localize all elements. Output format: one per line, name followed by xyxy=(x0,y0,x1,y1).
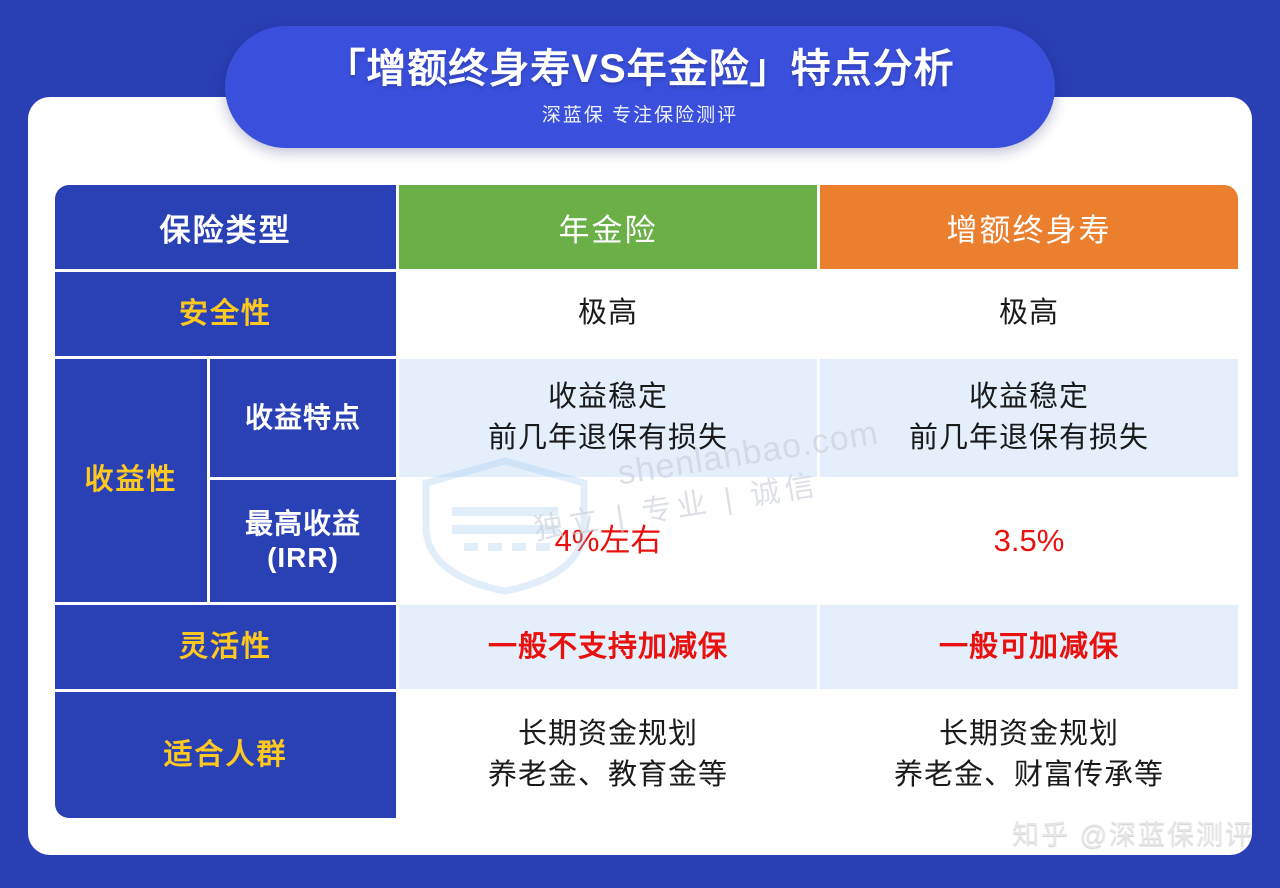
table-header-row: 保险类型 年金险 增额终身寿 xyxy=(55,185,1238,269)
title-banner: 「增额终身寿VS年金险」特点分析 深蓝保 专注保险测评 xyxy=(225,26,1055,148)
cell-flexibility-annuity: 一般不支持加减保 xyxy=(399,605,817,689)
cell-line: 养老金、教育金等 xyxy=(399,755,817,796)
cell-safety-whole-life: 极高 xyxy=(820,272,1238,356)
cell-irr-whole-life: 3.5% xyxy=(820,480,1238,602)
table-row: 适合人群 长期资金规划 养老金、教育金等 长期资金规划 养老金、财富传承等 xyxy=(55,692,1238,818)
sub-label-line: 最高收益 xyxy=(210,507,396,541)
watermark-zhihu: 知乎 @深蓝保测评 xyxy=(1012,813,1254,852)
cell-line: 养老金、财富传承等 xyxy=(820,755,1238,796)
row-sublabel-profit-feature: 收益特点 xyxy=(210,359,396,477)
category-label: 灵活性 xyxy=(179,631,272,663)
cell-text: 极高 xyxy=(999,297,1059,329)
cell-text: 极高 xyxy=(578,297,638,329)
cell-line: 长期资金规划 xyxy=(820,714,1238,755)
header-cell-whole-life: 增额终身寿 xyxy=(820,185,1238,269)
row-label-safety: 安全性 xyxy=(55,272,396,356)
table-row: 安全性 极高 极高 xyxy=(55,272,1238,356)
category-label: 适合人群 xyxy=(163,739,287,771)
page-subtitle: 深蓝保 专注保险测评 xyxy=(542,100,738,127)
cell-text: 4%左右 xyxy=(555,523,662,558)
header-cell-category: 保险类型 xyxy=(55,185,396,269)
row-label-flexibility: 灵活性 xyxy=(55,605,396,689)
cell-text: 一般不支持加减保 xyxy=(488,631,728,663)
sub-label-line: (IRR) xyxy=(210,541,396,575)
table-row: 灵活性 一般不支持加减保 一般可加减保 xyxy=(55,605,1238,689)
cell-profit-feature-whole-life: 收益稳定 前几年退保有损失 xyxy=(820,359,1238,477)
header-cell-annuity: 年金险 xyxy=(399,185,817,269)
cell-safety-annuity: 极高 xyxy=(399,272,817,356)
cell-audience-whole-life: 长期资金规划 养老金、财富传承等 xyxy=(820,692,1238,818)
cell-text: 长期资金规划 养老金、财富传承等 xyxy=(820,714,1238,796)
cell-line: 收益稳定 xyxy=(399,377,817,418)
cell-line: 长期资金规划 xyxy=(399,714,817,755)
cell-text: 收益稳定 前几年退保有损失 xyxy=(399,377,817,459)
sub-label: 最高收益 (IRR) xyxy=(210,507,396,574)
cell-profit-feature-annuity: 收益稳定 前几年退保有损失 xyxy=(399,359,817,477)
table-row: 收益性 收益特点 收益稳定 前几年退保有损失 收益稳定 前几年退保有损失 xyxy=(55,359,1238,477)
cell-irr-annuity: 4%左右 xyxy=(399,480,817,602)
category-label: 安全性 xyxy=(179,298,272,330)
cell-line: 前几年退保有损失 xyxy=(820,418,1238,459)
cell-line: 前几年退保有损失 xyxy=(399,418,817,459)
page-root: 「增额终身寿VS年金险」特点分析 深蓝保 专注保险测评 保险类型 年金险 增额终… xyxy=(0,0,1280,888)
row-label-profitability: 收益性 xyxy=(55,359,207,602)
cell-audience-annuity: 长期资金规划 养老金、教育金等 xyxy=(399,692,817,818)
page-title: 「增额终身寿VS年金险」特点分析 xyxy=(325,47,954,92)
cell-text: 收益稳定 前几年退保有损失 xyxy=(820,377,1238,459)
row-sublabel-max-irr: 最高收益 (IRR) xyxy=(210,480,396,602)
category-label: 收益性 xyxy=(84,464,177,496)
cell-text: 长期资金规划 养老金、教育金等 xyxy=(399,714,817,796)
cell-text: 3.5% xyxy=(994,523,1065,558)
sub-label: 收益特点 xyxy=(245,402,361,433)
table-row: 最高收益 (IRR) 4%左右 3.5% xyxy=(55,480,1238,602)
cell-text: 一般可加减保 xyxy=(939,631,1119,663)
cell-line: 收益稳定 xyxy=(820,377,1238,418)
row-label-target-audience: 适合人群 xyxy=(55,692,396,818)
comparison-table: 保险类型 年金险 增额终身寿 安全性 极高 极高 收益性 xyxy=(52,182,1241,821)
cell-flexibility-whole-life: 一般可加减保 xyxy=(820,605,1238,689)
